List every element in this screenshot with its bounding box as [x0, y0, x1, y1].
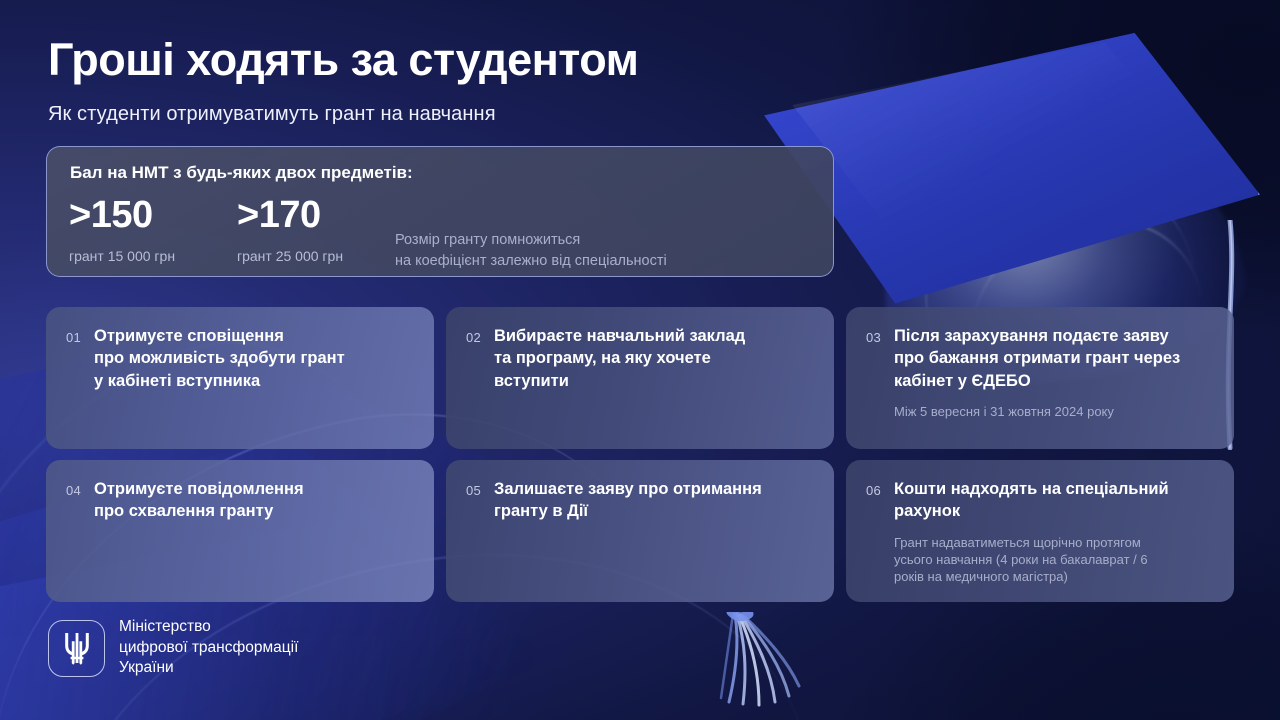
step-card-03: 03 Після зарахування подаєте заяву про б… [846, 307, 1234, 449]
step-card-02-number: 02 [466, 330, 481, 345]
step-card-04: 04 Отримуєте повідомлення про схвалення … [46, 460, 434, 602]
step-card-05-number: 05 [466, 483, 481, 498]
infographic-page: Гроші ходять за студентом Як студенти от… [0, 0, 1280, 720]
score-tier-2-grant: грант 25 000 грн [237, 248, 343, 264]
step-card-03-title: Після зарахування подаєте заяву про бажа… [894, 325, 1218, 392]
step-card-02-body: Вибираєте навчальний заклад та програму,… [494, 325, 818, 392]
score-tier-2-value: >170 [237, 196, 343, 234]
page-subtitle: Як студенти отримуватимуть грант на навч… [48, 103, 496, 126]
step-card-01-number: 01 [66, 330, 81, 345]
score-tier-1-value: >150 [69, 196, 175, 234]
score-card: Бал на НМТ з будь-яких двох предметів: >… [46, 146, 834, 277]
step-card-06-body: Кошти надходять на спеціальний рахунок Г… [894, 478, 1218, 586]
step-card-02-title: Вибираєте навчальний заклад та програму,… [494, 325, 818, 392]
step-card-04-body: Отримуєте повідомлення про схвалення гра… [94, 478, 418, 523]
ministry-name: Міністерство цифрової трансформації Укра… [119, 617, 298, 679]
step-card-06: 06 Кошти надходять на спеціальний рахуно… [846, 460, 1234, 602]
score-tier-1: >150 грант 15 000 грн [69, 196, 175, 264]
score-card-note: Розмір гранту помножиться на коефіцієнт … [395, 230, 667, 271]
score-tier-2: >170 грант 25 000 грн [237, 196, 343, 264]
step-card-05-title: Залишаєте заяву про отримання гранту в Д… [494, 478, 818, 523]
step-card-06-number: 06 [866, 483, 881, 498]
step-card-06-title: Кошти надходять на спеціальний рахунок [894, 478, 1218, 523]
ministry-logo-block: Міністерство цифрової трансформації Укра… [48, 620, 368, 690]
step-card-01-body: Отримуєте сповіщення про можливість здоб… [94, 325, 418, 392]
step-card-04-title: Отримуєте повідомлення про схвалення гра… [94, 478, 418, 523]
step-card-03-body: Після зарахування подаєте заяву про бажа… [894, 325, 1218, 421]
step-card-06-note: Грант надаватиметься щорічно протягом ус… [894, 534, 1218, 586]
step-card-01-title: Отримуєте сповіщення про можливість здоб… [94, 325, 418, 392]
step-card-04-number: 04 [66, 483, 81, 498]
step-card-05: 05 Залишаєте заяву про отримання гранту … [446, 460, 834, 602]
step-card-03-note: Між 5 вересня і 31 жовтня 2024 року [894, 403, 1218, 420]
step-card-05-body: Залишаєте заяву про отримання гранту в Д… [494, 478, 818, 523]
ukraine-trident-icon [48, 620, 105, 677]
step-card-02: 02 Вибираєте навчальний заклад та програ… [446, 307, 834, 449]
score-card-heading: Бал на НМТ з будь-яких двох предметів: [70, 163, 413, 183]
step-card-03-number: 03 [866, 330, 881, 345]
step-card-01: 01 Отримуєте сповіщення про можливість з… [46, 307, 434, 449]
trident-glyph [62, 631, 92, 667]
score-tier-1-grant: грант 15 000 грн [69, 248, 175, 264]
page-title: Гроші ходять за студентом [48, 36, 638, 83]
